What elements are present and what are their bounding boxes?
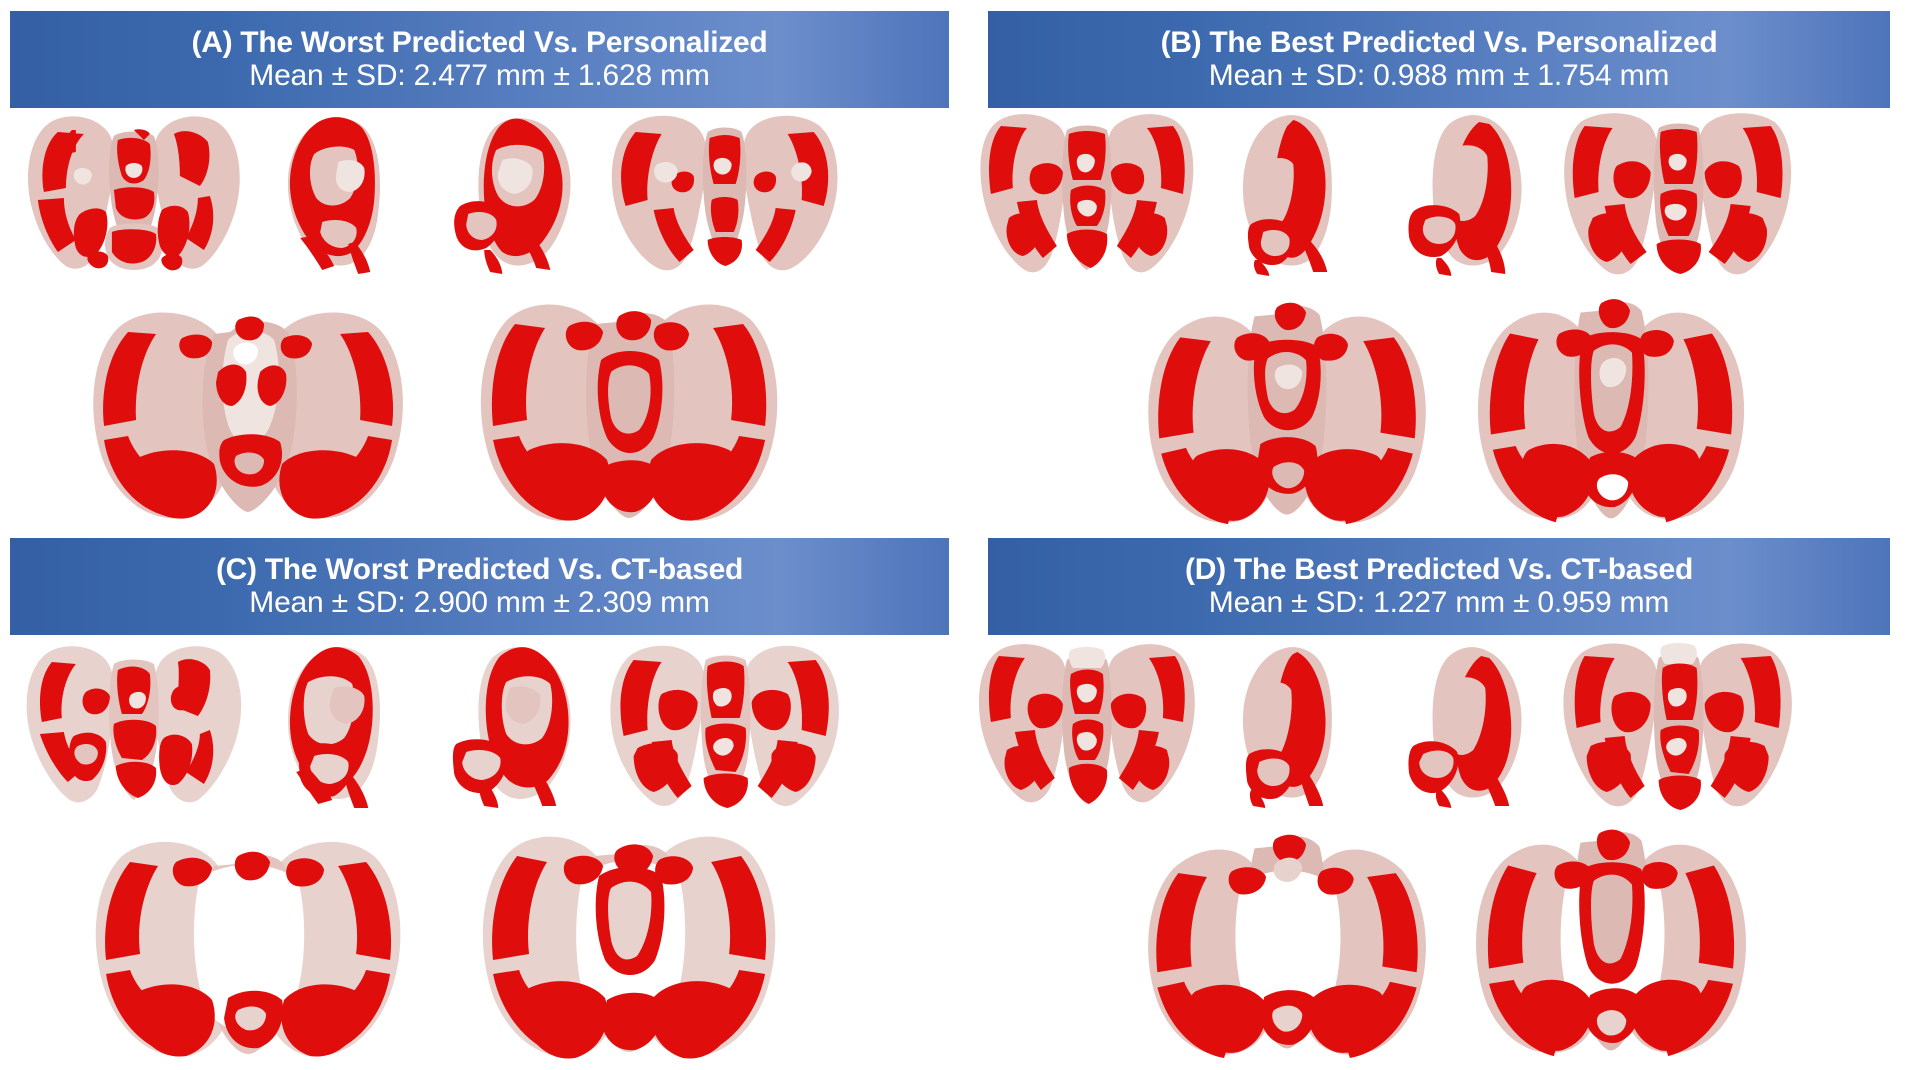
panel-c-header: (C) The Worst Predicted Vs. CT-based Mea… [10,538,949,635]
panel-a-stats: Mean ± SD: 2.477 mm ± 1.628 mm [249,61,709,92]
panel-b: (B) The Best Predicted Vs. Personalized … [953,0,1906,535]
pelvis-view-lateral-right [434,110,586,278]
panel-d-top-row [953,642,1906,810]
panel-a-render-area [0,108,953,535]
pelvis-view-lateral-right [1387,110,1539,278]
panel-a-header: (A) The Worst Predicted Vs. Personalized… [10,11,949,108]
pelvis-view-inferior [1449,812,1773,1062]
pelvis-view-lateral-left [272,110,424,278]
panel-c: (C) The Worst Predicted Vs. CT-based Mea… [0,535,953,1070]
panel-d-bottom-row [953,812,1906,1062]
pelvis-view-superior [1125,812,1449,1062]
panel-a-bottom-row [0,280,953,530]
figure-canvas: (A) The Worst Predicted Vs. Personalized… [0,0,1906,1070]
pelvis-view-anterior [10,110,258,278]
pelvis-view-posterior [596,642,853,810]
panel-c-title: (C) The Worst Predicted Vs. CT-based [216,555,743,586]
panel-b-render-area [953,108,1906,535]
pelvis-view-anterior [10,642,258,810]
panel-b-top-row [953,110,1906,278]
pelvis-view-superior [67,280,429,530]
panel-d-header: (D) The Best Predicted Vs. CT-based Mean… [988,538,1890,635]
panel-a-title: (A) The Worst Predicted Vs. Personalized [192,28,768,59]
pelvis-view-lateral-left [1225,642,1377,810]
panel-c-bottom-row [0,812,953,1062]
pelvis-view-superior [67,812,429,1062]
panel-d-title: (D) The Best Predicted Vs. CT-based [1185,555,1693,586]
pelvis-view-lateral-left [1225,110,1377,278]
panel-b-bottom-row [953,280,1906,530]
panel-a-top-row [0,110,953,278]
pelvis-view-inferior [448,280,810,530]
pelvis-view-lateral-left [272,642,424,810]
pelvis-view-inferior [448,812,810,1062]
pelvis-view-superior [1125,280,1449,530]
panel-c-stats: Mean ± SD: 2.900 mm ± 2.309 mm [249,588,709,619]
panel-b-stats: Mean ± SD: 0.988 mm ± 1.754 mm [1209,61,1669,92]
pelvis-view-posterior [596,110,853,278]
pelvis-view-lateral-right [434,642,586,810]
pelvis-view-anterior [963,642,1211,810]
panel-b-header: (B) The Best Predicted Vs. Personalized … [988,11,1890,108]
panel-d-render-area [953,640,1906,1070]
pelvis-view-anterior [963,110,1211,278]
panel-c-render-area [0,640,953,1070]
pelvis-view-posterior [1549,642,1806,810]
panel-c-top-row [0,642,953,810]
pelvis-view-lateral-right [1387,642,1539,810]
panel-b-title: (B) The Best Predicted Vs. Personalized [1161,28,1718,59]
panel-d: (D) The Best Predicted Vs. CT-based Mean… [953,535,1906,1070]
panel-a: (A) The Worst Predicted Vs. Personalized… [0,0,953,535]
panel-d-stats: Mean ± SD: 1.227 mm ± 0.959 mm [1209,588,1669,619]
pelvis-view-posterior [1549,110,1806,278]
pelvis-view-inferior [1449,280,1773,530]
